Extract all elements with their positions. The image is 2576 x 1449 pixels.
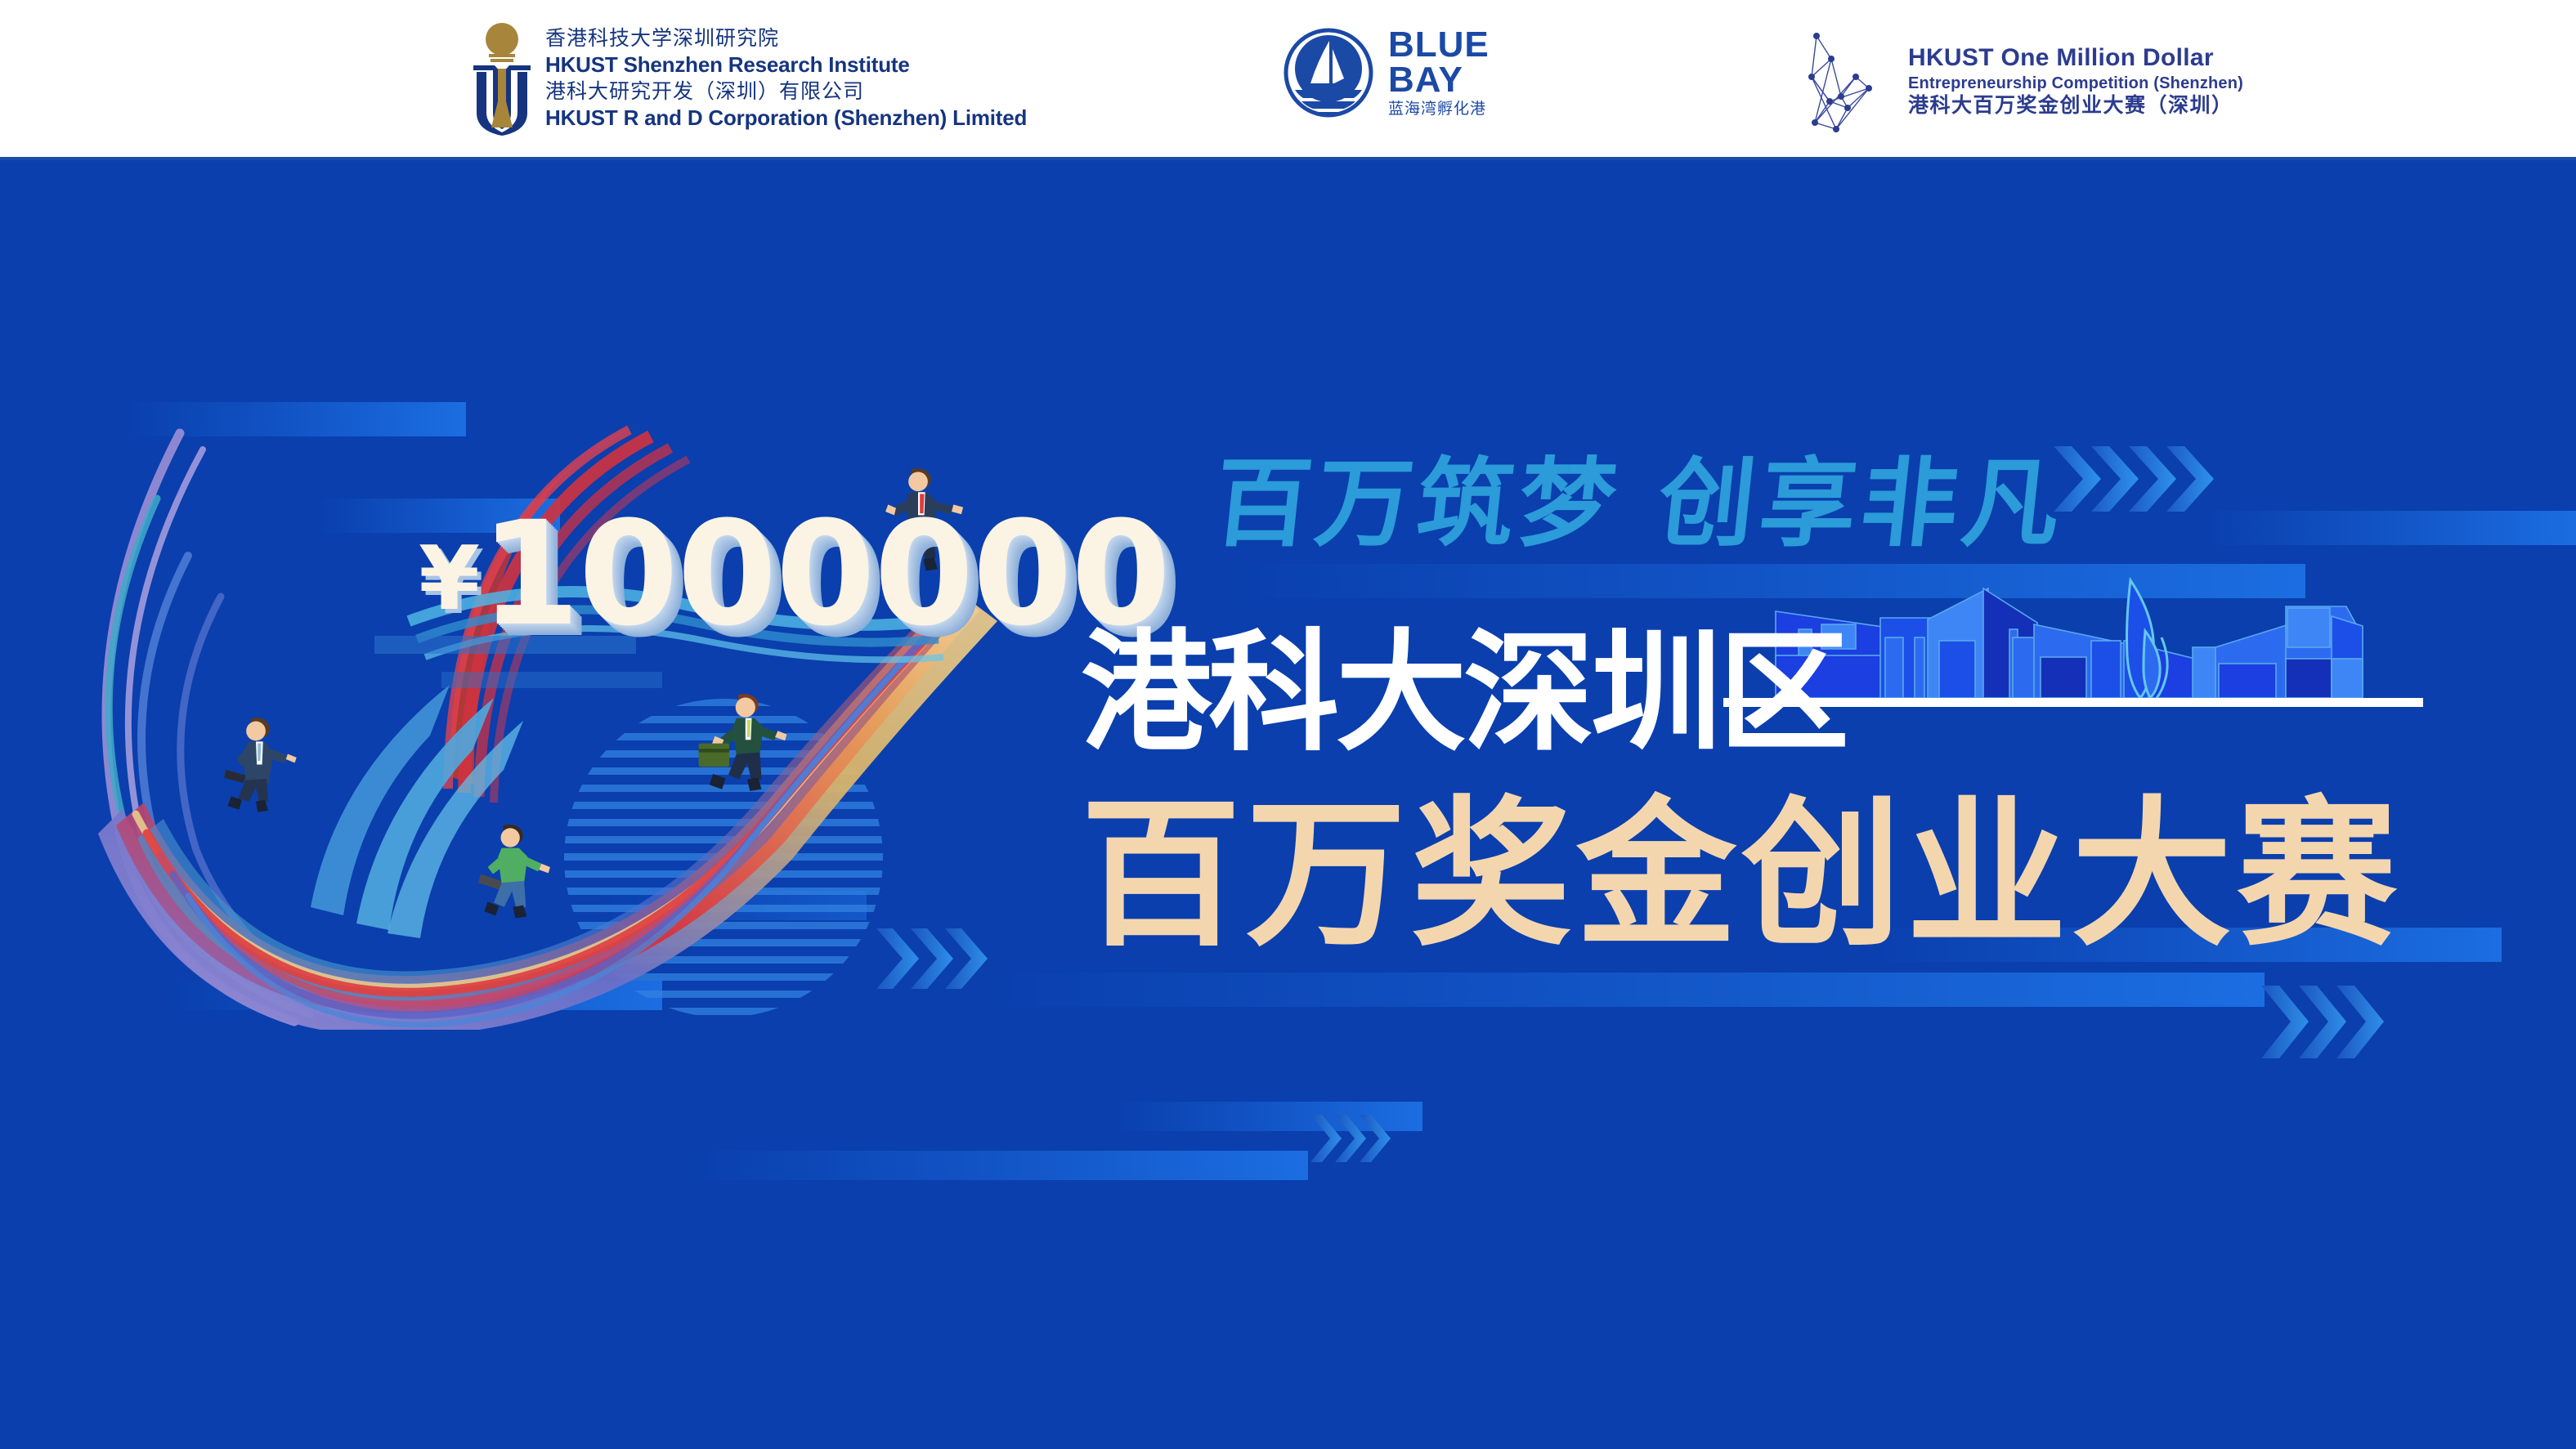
prize-amount: ¥1000000 xyxy=(419,490,1169,658)
logo-hkust-sri: 香港科技大学深圳研究院 HKUST Shenzhen Research Inst… xyxy=(470,21,1027,136)
sri-line-4: HKUST R and D Corporation (Shenzhen) Lim… xyxy=(545,105,1027,132)
blue-bay-word-2: BAY xyxy=(1388,63,1490,98)
blue-bay-word-1: BLUE xyxy=(1388,28,1490,63)
prize-number: 1000000 xyxy=(480,490,1169,658)
chevron-group xyxy=(2050,438,2255,520)
million-line-3: 港科大百万奖金创业大赛（深圳） xyxy=(1908,93,2243,119)
title-line-2: 百万奖金创业大赛 xyxy=(1081,745,2402,977)
million-line-2: Entrepreneurship Competition (Shenzhen) xyxy=(1908,74,2243,93)
sri-line-2: HKUST Shenzhen Research Institute xyxy=(545,51,1027,78)
sri-line-1: 香港科技大学深圳研究院 xyxy=(545,25,1027,51)
sri-line-3: 港科大研究开发（深圳）有限公司 xyxy=(545,78,1027,105)
tagline: 百万筑梦 创享非凡 xyxy=(1208,425,2072,565)
header-bar: 香港科技大学深圳研究院 HKUST Shenzhen Research Inst… xyxy=(0,0,2576,160)
million-line-1: HKUST One Million Dollar xyxy=(1908,43,2243,74)
decor-bar xyxy=(2199,511,2576,545)
decor-bar xyxy=(973,973,2265,1007)
runner-figure xyxy=(478,825,550,918)
blue-bay-subtitle: 蓝海湾孵化港 xyxy=(1388,102,1490,117)
chevron-group xyxy=(1308,1110,1406,1167)
chevron-group xyxy=(2258,979,2421,1065)
hkust-crest-icon xyxy=(470,21,534,136)
blue-bay-sailboat-icon xyxy=(1284,28,1373,118)
poster-canvas: 香港科技大学深圳研究院 HKUST Shenzhen Research Inst… xyxy=(0,0,2576,1449)
runners-on-ribbon-illustration xyxy=(65,351,997,1030)
currency-symbol: ¥ xyxy=(419,528,480,630)
hkust-network-bird-icon xyxy=(1799,26,1897,136)
logo-blue-bay: BLUE BAY 蓝海湾孵化港 xyxy=(1284,28,1490,118)
decor-bar xyxy=(687,1151,1308,1180)
logo-hkust-one-million: HKUST One Million Dollar Entrepreneurshi… xyxy=(1799,26,2243,136)
runner-figure xyxy=(224,718,297,812)
runner-figure xyxy=(699,694,787,791)
